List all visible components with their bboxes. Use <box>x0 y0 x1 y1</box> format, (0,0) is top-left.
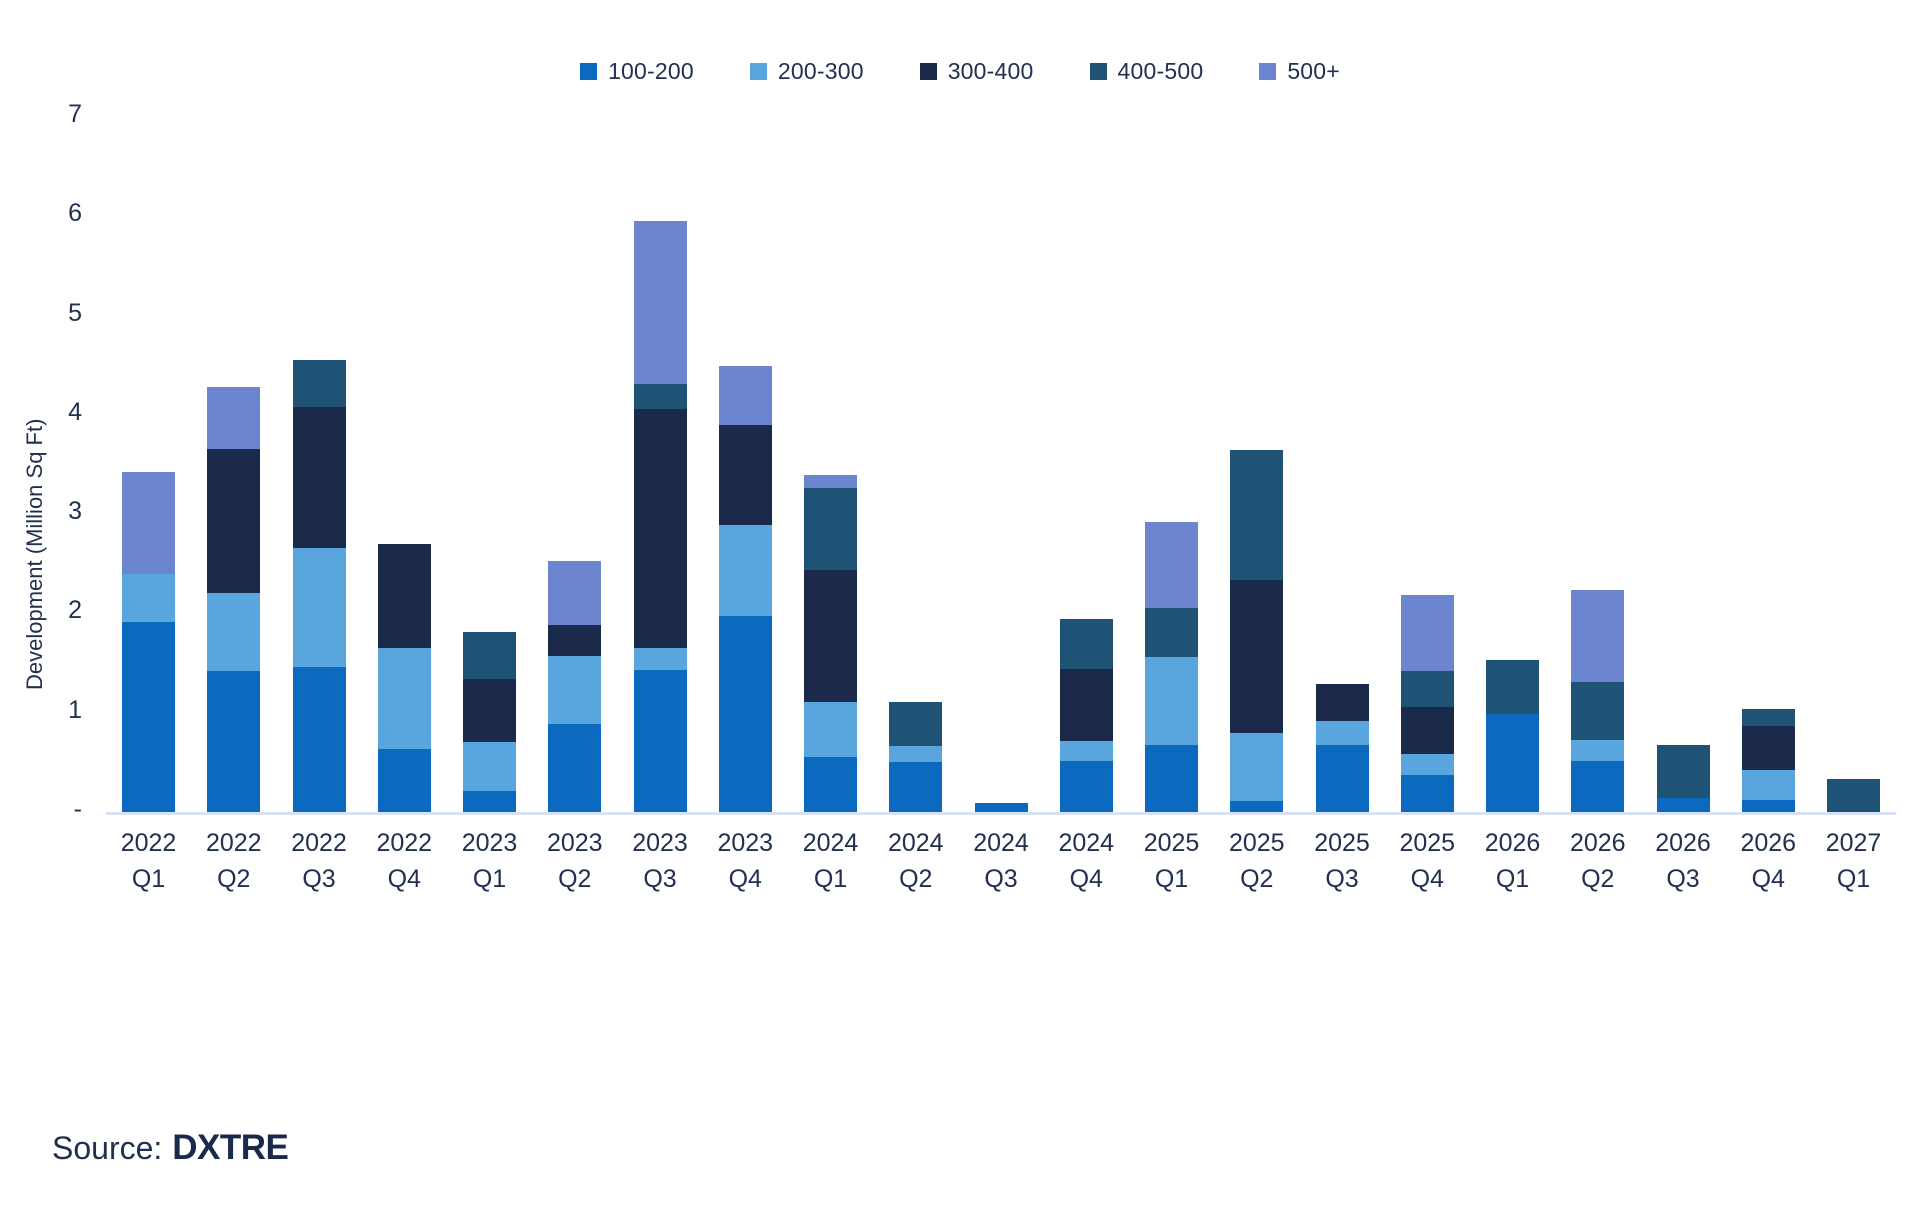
bar-stack <box>1742 709 1795 812</box>
bar-segment-300-400[interactable] <box>548 625 601 656</box>
bar-stack <box>634 221 687 812</box>
bar-segment-400-500[interactable] <box>1230 450 1283 580</box>
x-tick-label: 2025Q1 <box>1129 826 1214 897</box>
y-tick-3: 3 <box>28 499 82 524</box>
y-tick-7: 7 <box>28 102 82 127</box>
bar-segment-400-500[interactable] <box>463 632 516 679</box>
bar-segment-100-200[interactable] <box>378 749 431 812</box>
y-axis-title: Development (Million Sq Ft) <box>22 650 62 690</box>
y-tick-2: 2 <box>28 598 82 623</box>
x-tick-quarter: Q3 <box>1641 862 1726 898</box>
bar-segment-300-400[interactable] <box>634 409 687 648</box>
bar-segment-100-200[interactable] <box>1401 775 1454 812</box>
bar-segment-400-500[interactable] <box>1742 709 1795 726</box>
x-tick-quarter: Q4 <box>1044 862 1129 898</box>
x-tick-year: 2025 <box>1300 826 1385 862</box>
bar-stack <box>1230 450 1283 812</box>
x-tick-quarter: Q1 <box>1129 862 1214 898</box>
bar-segment-500plus[interactable] <box>1401 595 1454 671</box>
y-tick-5: 5 <box>28 301 82 326</box>
bar-segment-400-500[interactable] <box>293 360 346 407</box>
bar-stack <box>293 360 346 812</box>
x-tick-year: 2025 <box>1214 826 1299 862</box>
x-tick-year: 2027 <box>1811 826 1896 862</box>
y-tick-6: 6 <box>28 201 82 226</box>
bar-segment-100-200[interactable] <box>1571 761 1624 812</box>
bar-stack <box>1657 745 1710 813</box>
x-tick-label: 2027Q1 <box>1811 826 1896 897</box>
x-tick-label: 2026Q3 <box>1641 826 1726 897</box>
bar-stack <box>1571 590 1624 812</box>
x-tick-year: 2022 <box>106 826 191 862</box>
bar-segment-100-200[interactable] <box>1742 800 1795 812</box>
bar-segment-300-400[interactable] <box>1060 669 1113 740</box>
x-tick-year: 2022 <box>191 826 276 862</box>
x-tick-year: 2026 <box>1470 826 1555 862</box>
bar-segment-500plus[interactable] <box>634 221 687 384</box>
bar-segment-200-300[interactable] <box>1316 721 1369 746</box>
bar-segment-100-200[interactable] <box>122 622 175 812</box>
bar-column[interactable] <box>618 110 703 812</box>
brand-logo-dxtre: DXTRE <box>172 1128 288 1168</box>
bar-stack <box>1486 660 1539 812</box>
bar-column[interactable] <box>1641 110 1726 812</box>
bar-column[interactable] <box>277 110 362 812</box>
bar-column[interactable] <box>1555 110 1640 812</box>
bar-stack <box>207 387 260 812</box>
x-tick-year: 2025 <box>1129 826 1214 862</box>
x-tick-year: 2022 <box>277 826 362 862</box>
bar-column[interactable] <box>873 110 958 812</box>
bar-segment-500plus[interactable] <box>207 387 260 449</box>
bar-segment-500plus[interactable] <box>548 561 601 626</box>
x-tick-year: 2023 <box>703 826 788 862</box>
bar-segment-200-300[interactable] <box>122 574 175 623</box>
bar-segment-400-500[interactable] <box>1145 608 1198 657</box>
x-tick-quarter: Q1 <box>1470 862 1555 898</box>
x-tick-label: 2023Q1 <box>447 826 532 897</box>
x-tick-label: 2025Q3 <box>1300 826 1385 897</box>
bar-segment-500plus[interactable] <box>804 475 857 488</box>
x-tick-quarter: Q3 <box>277 862 362 898</box>
bar-segment-100-200[interactable] <box>634 670 687 812</box>
bar-segment-400-500[interactable] <box>889 702 942 747</box>
bar-stack <box>1316 684 1369 812</box>
bar-segment-100-200[interactable] <box>1486 714 1539 812</box>
bar-column[interactable] <box>788 110 873 812</box>
bar-column[interactable] <box>1044 110 1129 812</box>
source-footer: Source: DXTRE <box>52 1128 288 1168</box>
bar-segment-200-300[interactable] <box>634 648 687 670</box>
bar-segment-100-200[interactable] <box>804 757 857 812</box>
x-tick-quarter: Q1 <box>106 862 191 898</box>
x-tick-year: 2024 <box>788 826 873 862</box>
bar-segment-200-300[interactable] <box>1571 740 1624 762</box>
bar-stack <box>1145 522 1198 812</box>
bar-segment-500plus[interactable] <box>1145 522 1198 608</box>
bar-segment-100-200[interactable] <box>1230 801 1283 812</box>
x-tick-year: 2023 <box>447 826 532 862</box>
x-tick-quarter: Q3 <box>1300 862 1385 898</box>
bar-segment-200-300[interactable] <box>293 548 346 667</box>
x-tick-label: 2025Q4 <box>1385 826 1470 897</box>
bar-segment-300-400[interactable] <box>378 544 431 648</box>
x-tick-quarter: Q4 <box>1385 862 1470 898</box>
bar-segment-200-300[interactable] <box>207 593 260 671</box>
x-tick-label: 2023Q4 <box>703 826 788 897</box>
bar-column[interactable] <box>532 110 617 812</box>
bar-segment-100-200[interactable] <box>975 803 1028 812</box>
x-tick-quarter: Q1 <box>447 862 532 898</box>
x-tick-year: 2023 <box>532 826 617 862</box>
bar-segment-200-300[interactable] <box>719 525 772 616</box>
x-tick-label: 2026Q4 <box>1726 826 1811 897</box>
bar-column[interactable] <box>703 110 788 812</box>
bar-segment-400-500[interactable] <box>1657 745 1710 799</box>
plot-area: Development (Million Sq Ft) -1234567 202… <box>0 0 1920 1220</box>
bar-segment-300-400[interactable] <box>1401 707 1454 755</box>
x-tick-year: 2026 <box>1726 826 1811 862</box>
bar-segment-200-300[interactable] <box>804 702 857 758</box>
bar-segment-200-300[interactable] <box>463 742 516 792</box>
x-tick-quarter: Q3 <box>618 862 703 898</box>
x-tick-label: 2023Q2 <box>532 826 617 897</box>
y-tick-4: 4 <box>28 400 82 425</box>
x-tick-year: 2025 <box>1385 826 1470 862</box>
bar-column[interactable] <box>362 110 447 812</box>
bar-column[interactable] <box>191 110 276 812</box>
x-tick-quarter: Q2 <box>1555 862 1640 898</box>
x-tick-quarter: Q1 <box>1811 862 1896 898</box>
bar-segment-300-400[interactable] <box>1316 684 1369 721</box>
bar-segment-200-300[interactable] <box>378 648 431 749</box>
bar-segment-200-300[interactable] <box>1060 741 1113 762</box>
bar-column[interactable] <box>1811 110 1896 812</box>
bar-segment-100-200[interactable] <box>1316 745 1369 812</box>
x-tick-label: 2026Q2 <box>1555 826 1640 897</box>
x-tick-year: 2023 <box>618 826 703 862</box>
y-tick-zero: - <box>28 797 82 822</box>
bar-segment-200-300[interactable] <box>1401 754 1454 775</box>
x-tick-label: 2022Q1 <box>106 826 191 897</box>
x-tick-year: 2024 <box>959 826 1044 862</box>
x-tick-year: 2024 <box>873 826 958 862</box>
bar-segment-400-500[interactable] <box>1571 682 1624 740</box>
bar-column[interactable] <box>447 110 532 812</box>
bar-stack <box>889 702 942 812</box>
bar-stack <box>122 472 175 812</box>
bar-segment-300-400[interactable] <box>207 449 260 593</box>
bar-segment-400-500[interactable] <box>804 488 857 569</box>
bar-segment-100-200[interactable] <box>719 616 772 812</box>
x-tick-label: 2026Q1 <box>1470 826 1555 897</box>
x-tick-quarter: Q2 <box>191 862 276 898</box>
bar-column[interactable] <box>1470 110 1555 812</box>
x-tick-label: 2024Q4 <box>1044 826 1129 897</box>
bar-column[interactable] <box>959 110 1044 812</box>
x-axis-labels: 2022Q12022Q22022Q32022Q42023Q12023Q22023… <box>106 826 1896 897</box>
bar-stack <box>975 803 1028 812</box>
bar-column[interactable] <box>1726 110 1811 812</box>
x-tick-year: 2024 <box>1044 826 1129 862</box>
axis-baseline <box>106 812 1896 815</box>
bar-segment-100-200[interactable] <box>1145 745 1198 812</box>
bar-segment-100-200[interactable] <box>548 724 601 812</box>
x-tick-quarter: Q1 <box>788 862 873 898</box>
x-tick-quarter: Q2 <box>532 862 617 898</box>
bar-segment-200-300[interactable] <box>1230 733 1283 802</box>
x-tick-quarter: Q4 <box>362 862 447 898</box>
bar-segment-500plus[interactable] <box>122 472 175 573</box>
bar-segment-300-400[interactable] <box>804 570 857 702</box>
x-tick-year: 2026 <box>1641 826 1726 862</box>
bar-segment-100-200[interactable] <box>293 667 346 812</box>
bar-segment-100-200[interactable] <box>207 671 260 812</box>
bar-segment-100-200[interactable] <box>463 791 516 812</box>
bar-segment-200-300[interactable] <box>889 746 942 762</box>
x-tick-quarter: Q2 <box>873 862 958 898</box>
x-tick-label: 2025Q2 <box>1214 826 1299 897</box>
bar-stack <box>1827 779 1880 812</box>
bar-segment-300-400[interactable] <box>1742 726 1795 771</box>
bar-segment-100-200[interactable] <box>889 762 942 812</box>
bar-column[interactable] <box>106 110 191 812</box>
bar-stack <box>1401 595 1454 812</box>
bar-stack <box>378 544 431 812</box>
x-tick-label: 2024Q2 <box>873 826 958 897</box>
x-tick-quarter: Q2 <box>1214 862 1299 898</box>
bar-segment-100-200[interactable] <box>1657 798 1710 812</box>
bar-stack <box>804 475 857 812</box>
x-tick-label: 2022Q2 <box>191 826 276 897</box>
bar-column[interactable] <box>1129 110 1214 812</box>
bar-segment-100-200[interactable] <box>1060 761 1113 812</box>
bar-column[interactable] <box>1385 110 1470 812</box>
bar-segment-400-500[interactable] <box>1401 671 1454 707</box>
bar-stack <box>719 366 772 812</box>
x-tick-year: 2022 <box>362 826 447 862</box>
x-tick-label: 2024Q1 <box>788 826 873 897</box>
x-tick-label: 2024Q3 <box>959 826 1044 897</box>
bar-segment-400-500[interactable] <box>1060 619 1113 669</box>
bar-stack <box>1060 619 1113 812</box>
bar-stack <box>463 632 516 812</box>
x-tick-quarter: Q4 <box>1726 862 1811 898</box>
bar-segment-200-300[interactable] <box>1145 657 1198 745</box>
bar-column[interactable] <box>1300 110 1385 812</box>
x-tick-quarter: Q4 <box>703 862 788 898</box>
bar-segment-400-500[interactable] <box>1827 779 1880 812</box>
bar-segment-300-400[interactable] <box>1230 580 1283 733</box>
bar-segment-300-400[interactable] <box>463 679 516 742</box>
x-tick-quarter: Q3 <box>959 862 1044 898</box>
chart-page: 100-200200-300300-400400-500500+ Develop… <box>0 0 1920 1220</box>
bar-stack <box>548 561 601 812</box>
bar-segment-500plus[interactable] <box>719 366 772 425</box>
x-tick-label: 2022Q4 <box>362 826 447 897</box>
bar-segment-200-300[interactable] <box>548 656 601 724</box>
y-tick-1: 1 <box>28 698 82 723</box>
bar-segment-300-400[interactable] <box>293 407 346 548</box>
x-tick-label: 2023Q3 <box>618 826 703 897</box>
bar-column[interactable] <box>1214 110 1299 812</box>
x-tick-label: 2022Q3 <box>277 826 362 897</box>
bar-segment-500plus[interactable] <box>1571 590 1624 682</box>
bar-segment-400-500[interactable] <box>1486 660 1539 714</box>
source-label: Source: <box>52 1130 162 1167</box>
bar-series-container <box>106 110 1896 812</box>
bar-segment-300-400[interactable] <box>719 425 772 525</box>
bar-segment-200-300[interactable] <box>1742 770 1795 800</box>
bar-segment-400-500[interactable] <box>634 384 687 409</box>
x-tick-year: 2026 <box>1555 826 1640 862</box>
